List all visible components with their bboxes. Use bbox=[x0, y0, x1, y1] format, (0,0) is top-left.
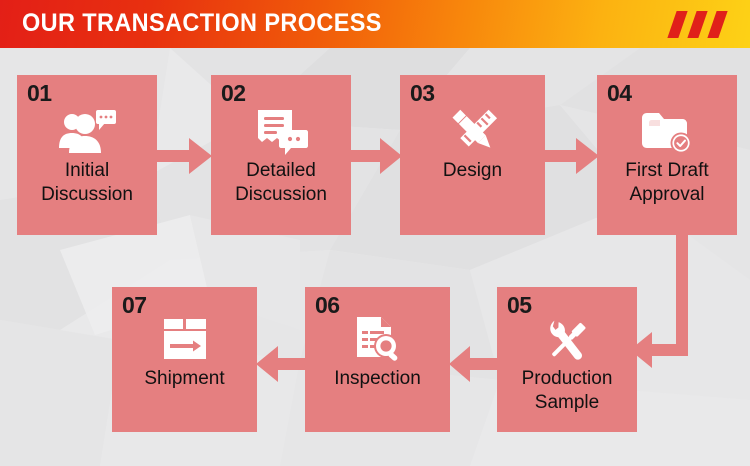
step-label-03-line1: Design bbox=[404, 159, 541, 183]
step-box-05[interactable]: 05 Production Sample bbox=[497, 287, 637, 432]
slash-mark-1 bbox=[667, 11, 687, 38]
chat-bubbles-document-icon bbox=[211, 109, 351, 155]
step-label-04: First Draft Approval bbox=[597, 159, 737, 207]
step-box-07[interactable]: 07 Shipment bbox=[112, 287, 257, 432]
step-label-04-line1: First Draft bbox=[601, 159, 733, 183]
step-label-02-line1: Detailed bbox=[215, 159, 347, 183]
slash-mark-2 bbox=[687, 11, 707, 38]
step-label-01-line1: Initial bbox=[21, 159, 153, 183]
step-label-07-line1: Shipment bbox=[116, 367, 253, 391]
step-label-05: Production Sample bbox=[497, 367, 637, 415]
infographic-canvas: OUR TRANSACTION PROCESS 01 bbox=[0, 0, 750, 466]
step-label-01: Initial Discussion bbox=[17, 159, 157, 207]
step-label-04-line2: Approval bbox=[601, 183, 733, 207]
step-box-04[interactable]: 04 First Draft Approval bbox=[597, 75, 737, 235]
arrow-01-to-02 bbox=[157, 136, 212, 176]
step-label-06: Inspection bbox=[305, 367, 450, 391]
step-box-02[interactable]: 02 Detailed Discussion bbox=[211, 75, 351, 235]
step-label-02-line2: Discussion bbox=[215, 183, 347, 207]
step-number-04: 04 bbox=[607, 80, 632, 107]
package-arrow-icon bbox=[112, 315, 257, 363]
people-chat-icon bbox=[17, 109, 157, 155]
page-title: OUR TRANSACTION PROCESS bbox=[22, 9, 382, 38]
step-box-06[interactable]: 06 Inspection bbox=[305, 287, 450, 432]
step-label-05-line1: Production bbox=[501, 367, 633, 391]
step-label-07: Shipment bbox=[112, 367, 257, 391]
arrow-06-to-07 bbox=[256, 344, 307, 384]
slash-mark-3 bbox=[707, 11, 727, 38]
ruler-pencil-icon bbox=[400, 105, 545, 157]
step-label-06-line1: Inspection bbox=[309, 367, 446, 391]
header-banner: OUR TRANSACTION PROCESS bbox=[0, 0, 750, 48]
arrow-05-to-06 bbox=[449, 344, 499, 384]
arrow-02-to-03 bbox=[350, 136, 402, 176]
step-label-03: Design bbox=[400, 159, 545, 183]
folder-check-icon bbox=[597, 109, 737, 155]
step-label-01-line2: Discussion bbox=[21, 183, 153, 207]
arrow-03-to-04 bbox=[545, 136, 599, 176]
connector-04-to-05 bbox=[630, 228, 700, 368]
step-number-02: 02 bbox=[221, 80, 246, 107]
document-magnifier-icon bbox=[305, 315, 450, 363]
step-box-03[interactable]: 03 Design bbox=[400, 75, 545, 235]
step-number-01: 01 bbox=[27, 80, 52, 107]
step-number-03: 03 bbox=[410, 80, 435, 107]
wrench-screwdriver-icon bbox=[497, 315, 637, 365]
step-label-05-line2: Sample bbox=[501, 391, 633, 415]
triple-slash-icon bbox=[672, 11, 736, 38]
step-label-02: Detailed Discussion bbox=[211, 159, 351, 207]
step-box-01[interactable]: 01 Initial Discussion bbox=[17, 75, 157, 235]
